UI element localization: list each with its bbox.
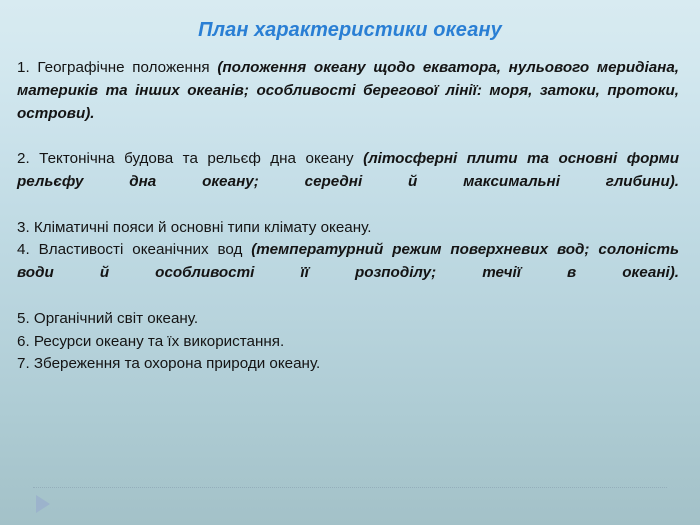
presentation-slide: План характеристики океану 1. Географічн… — [0, 0, 700, 525]
page-title: План характеристики океану — [0, 17, 700, 43]
list-item-plain-text: 4. Властивості океанічних вод — [17, 241, 251, 258]
list-item: 4. Властивості океанічних вод (температу… — [17, 239, 679, 307]
list-item-plain-text: 1. Географічне положення — [17, 59, 217, 76]
list-item: 5. Органічний світ океану. — [17, 308, 679, 331]
list-item: 2. Тектонічна будова та рельєф дна океан… — [17, 148, 679, 216]
list-item-plain-text: 5. Органічний світ океану. — [17, 310, 198, 327]
footer-divider — [33, 487, 667, 488]
list-item-plain-text: 3. Кліматичні пояси й основні типи кліма… — [17, 219, 371, 236]
list-item-plain-text: 7. Збереження та охорона природи океану. — [17, 355, 320, 372]
list-item: 6. Ресурси океану та їх використання. — [17, 331, 679, 354]
list-item-plain-text: 2. Тектонічна будова та рельєф дна океан… — [17, 150, 363, 167]
play-triangle-right-icon[interactable] — [36, 495, 50, 513]
list-item: 1. Географічне положення (положення океа… — [17, 57, 679, 148]
list-item-plain-text: 6. Ресурси океану та їх використання. — [17, 333, 284, 350]
plan-list: 1. Географічне положення (положення океа… — [17, 57, 679, 376]
list-item: 7. Збереження та охорона природи океану. — [17, 353, 679, 376]
list-item: 3. Кліматичні пояси й основні типи кліма… — [17, 217, 679, 240]
